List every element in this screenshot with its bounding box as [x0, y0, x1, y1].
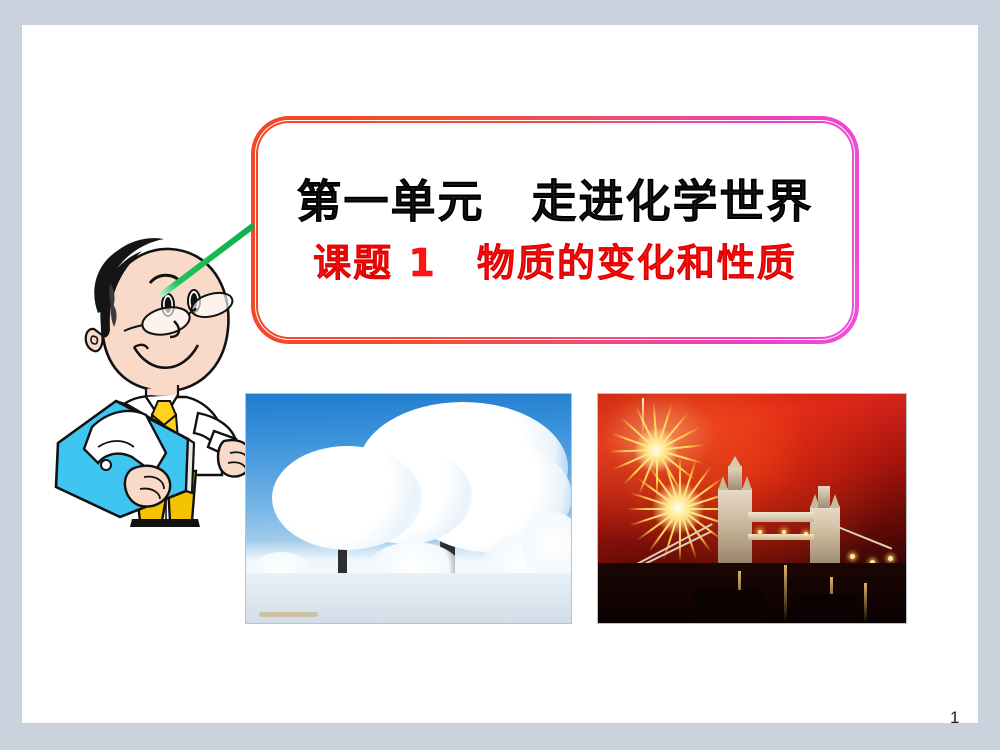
- bridge-light: [850, 554, 855, 559]
- title-box: 第一单元 走进化学世界 课题 1 物质的变化和性质: [251, 116, 859, 344]
- bridge-tower-left-spire: [728, 466, 742, 490]
- water-reflection: [864, 583, 867, 623]
- water-reflection: [784, 565, 787, 623]
- bridge-tower-right-spire: [818, 486, 830, 508]
- bridge-light: [804, 532, 808, 536]
- river-barge-silhouette: [694, 590, 764, 624]
- slide-canvas: 第一单元 走进化学世界 课题 1 物质的变化和性质: [22, 25, 978, 723]
- page-number: 1: [950, 708, 959, 728]
- page-title: 第一单元 走进化学世界: [296, 179, 813, 224]
- photo-fireworks-tower-bridge: [597, 393, 907, 624]
- firework-core: [652, 482, 704, 534]
- photo-winter-frost-trees: [245, 393, 572, 624]
- cartoon-teacher-svg: [46, 225, 261, 535]
- bridge-light: [888, 556, 893, 561]
- title-text-group: 第一单元 走进化学世界 课题 1 物质的变化和性质: [251, 116, 859, 344]
- bridge-tower-left-spire-cap: [728, 456, 742, 468]
- bridge-upper-walkway: [748, 512, 814, 522]
- bridge-turret: [742, 476, 752, 490]
- river-pier-silhouette: [798, 594, 856, 624]
- bridge-light: [758, 530, 762, 534]
- tree-canopy: [272, 446, 422, 550]
- bridge-light: [782, 530, 786, 534]
- bridge-turret: [830, 494, 840, 508]
- firework-trail: [642, 398, 644, 438]
- page-subtitle: 课题 1 物质的变化和性质: [313, 244, 797, 282]
- cartoon-teacher: [46, 225, 261, 535]
- bridge-turret: [718, 476, 728, 490]
- winter-snow-ground: [246, 573, 571, 623]
